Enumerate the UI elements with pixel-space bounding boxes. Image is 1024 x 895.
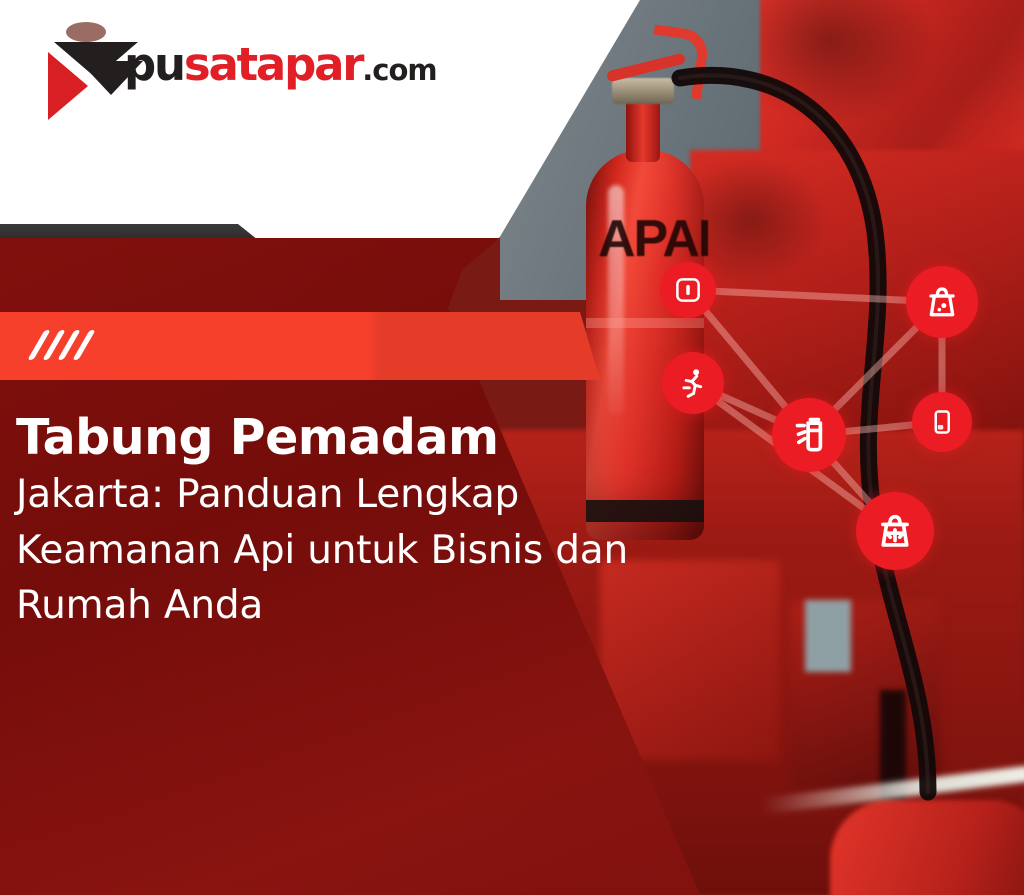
charcoal-accent-bar xyxy=(0,224,258,240)
page-subtitle: Jakarta: Panduan Lengkap Keamanan Api un… xyxy=(16,467,666,633)
logo-wordmark: pusatapar.com xyxy=(124,42,437,87)
logo-triangle-red xyxy=(48,52,88,120)
extinguisher-hose xyxy=(660,52,990,812)
page-title: Tabung Pemadam xyxy=(16,412,666,463)
site-logo[interactable]: pusatapar.com xyxy=(40,16,437,108)
headline-block: Tabung Pemadam Jakarta: Panduan Lengkap … xyxy=(16,412,666,634)
logo-head-ellipse xyxy=(66,22,106,42)
pusatapar-chevron-mark-icon xyxy=(40,16,128,108)
decorative-slashes xyxy=(36,330,87,360)
logo-word-part-2: satapar xyxy=(184,38,362,91)
logo-triangle-right xyxy=(79,61,143,95)
photo-foreground-cylinder xyxy=(830,800,1024,895)
poster-canvas: APAR xyxy=(0,0,1024,895)
logo-word-tld: .com xyxy=(362,53,436,87)
